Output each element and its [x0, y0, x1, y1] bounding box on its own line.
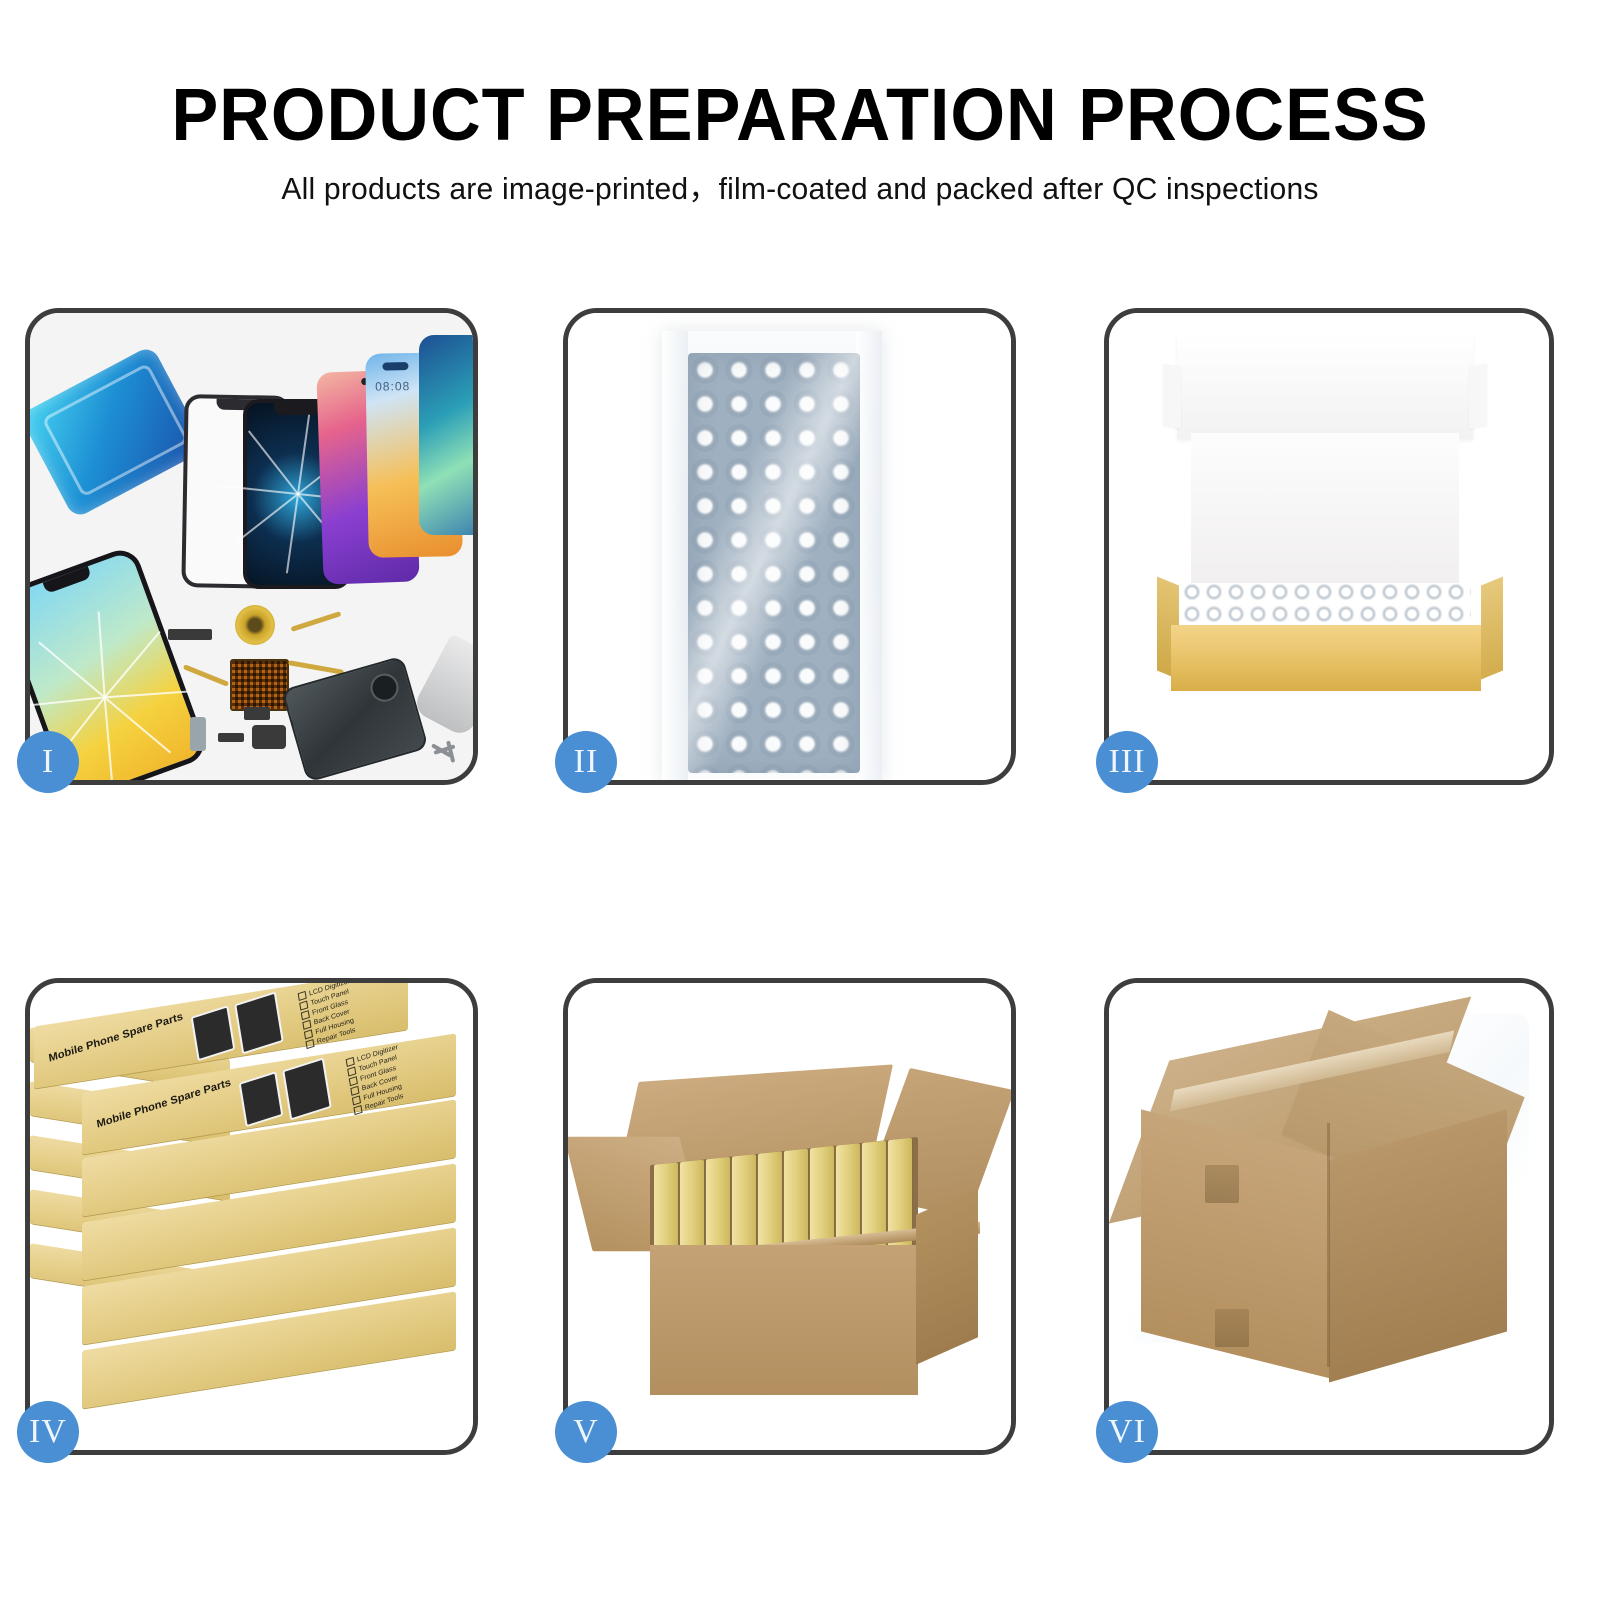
step-badge-3: III [1096, 731, 1158, 793]
carton-corner-seam [1327, 1123, 1330, 1367]
box-checklist: LCD Digitizer Touch Panel Front Glass Ba… [346, 1043, 407, 1117]
wrap-edge-left [662, 331, 688, 780]
step-image-3 [1109, 313, 1549, 780]
wireless-charging-coil-part [235, 605, 275, 645]
step-image-1: 08:08 [30, 313, 473, 780]
carton-right-wall [916, 1187, 978, 1365]
screwdriver-tools-icon [428, 737, 473, 763]
header: PRODUCT PREPARATION PROCESS All products… [0, 0, 1600, 250]
tape-tab-upper [1205, 1165, 1239, 1203]
box-checklist: LCD Digitizer Touch Panel Front Glass Ba… [298, 983, 359, 1051]
carton-front-wall [650, 1245, 918, 1395]
sim-tray-part [190, 717, 206, 751]
step-image-5 [568, 983, 1011, 1450]
step-panel-4[interactable]: Mobile Phone Spare Parts LCD Digitizer T… [25, 978, 478, 1455]
step-panel-5[interactable]: V [563, 978, 1016, 1455]
box-back-wall [1191, 433, 1459, 583]
earpiece-mesh-part [168, 629, 212, 640]
box-brand-label: Mobile Phone Spare Parts [96, 1077, 232, 1131]
step-image-6 [1109, 983, 1549, 1450]
step-image-2 [568, 313, 1011, 780]
step-badge-1: I [17, 731, 79, 793]
punch-hole-camera [382, 362, 408, 370]
button-flex-part [218, 733, 244, 742]
battery-connector-part [244, 707, 270, 720]
phone-clock-text: 08:08 [375, 379, 410, 394]
step-badge-2: II [555, 731, 617, 793]
step-panel-1[interactable]: 08:08 [25, 308, 478, 785]
step-panel-2[interactable]: II [563, 308, 1016, 785]
page-title: PRODUCT PREPARATION PROCESS [40, 78, 1560, 152]
box-brand-label: Mobile Phone Spare Parts [48, 1011, 184, 1065]
box-side-right [1481, 577, 1503, 680]
plastic-sheen [688, 353, 860, 773]
box-lid-flap [1177, 335, 1473, 439]
step-badge-5: V [555, 1401, 617, 1463]
page-subtitle: All products are image-printed，film-coat… [24, 170, 1576, 207]
bubble-wrapped-contents [1181, 581, 1471, 631]
box-screen-thumbnail [234, 991, 284, 1054]
step-panel-3[interactable]: III [1104, 308, 1554, 785]
box-front-wall [1171, 625, 1481, 691]
box-screen-thumbnail [239, 1071, 284, 1127]
camera-lens [367, 670, 402, 705]
phone-teal-gradient-icon [419, 335, 473, 535]
step-badge-4: IV [17, 1401, 79, 1463]
box-screen-thumbnail [191, 1005, 236, 1061]
speaker-part [252, 725, 286, 749]
retail-box-stack: Mobile Phone Spare Parts LCD Digitizer T… [30, 1001, 454, 1431]
bubble-wrap-package [662, 331, 882, 780]
step-panel-6[interactable]: VI [1104, 978, 1554, 1455]
step-badge-6: VI [1096, 1401, 1158, 1463]
tape-tab-lower [1215, 1309, 1249, 1347]
ic-chip-part [230, 659, 289, 711]
box-screen-thumbnail [282, 1057, 332, 1120]
step-image-4: Mobile Phone Spare Parts LCD Digitizer T… [30, 983, 473, 1450]
